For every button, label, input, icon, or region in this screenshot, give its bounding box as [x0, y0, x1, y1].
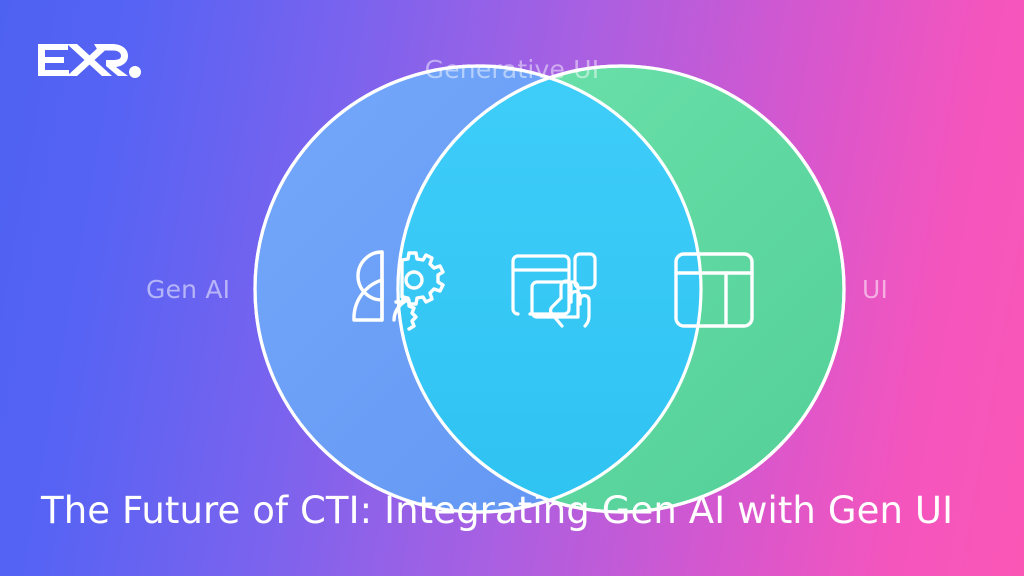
venn-label-ui: UI: [862, 277, 888, 302]
page-title: The Future of CTI: Integrating Gen AI wi…: [41, 492, 953, 529]
venn-label-gen-ai: Gen AI: [146, 277, 230, 302]
venn-label-generative-ui: Generative UI: [0, 57, 1024, 82]
slide-canvas: Generative UI Gen AI UI The Future of CT…: [0, 0, 1024, 576]
